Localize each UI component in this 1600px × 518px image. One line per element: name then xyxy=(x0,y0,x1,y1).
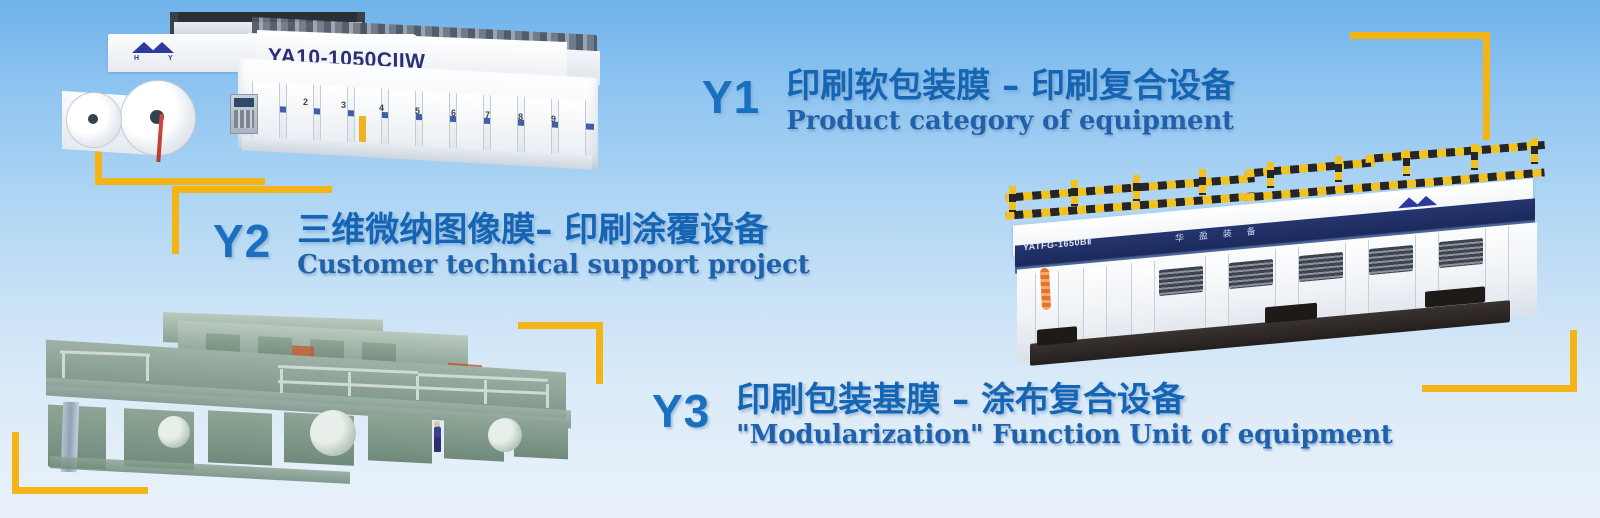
operator-figure xyxy=(434,426,441,452)
safety-rail-post xyxy=(1471,144,1478,170)
print-unit-number: 9 xyxy=(551,114,556,124)
print-unit-number: 6 xyxy=(451,108,456,118)
lamination-column xyxy=(1083,266,1107,348)
press-control-panel xyxy=(230,94,258,134)
entry-y3-text: 印刷包装基膜 – 涂布复合设备 "Modularization" Functio… xyxy=(736,382,1392,449)
entry-y1: Y1 印刷软包装膜 – 印刷复合设备 Product category of e… xyxy=(702,68,1235,135)
entry-y2-chinese: 三维微纳图像膜– 印刷涂覆设备 xyxy=(297,212,809,249)
safety-rail-post xyxy=(1531,138,1538,164)
control-panel-screen xyxy=(234,98,254,107)
safety-rail-post xyxy=(1335,156,1342,182)
coating-drum xyxy=(488,418,522,452)
control-panel-keypad xyxy=(234,110,254,128)
print-unit-number: 8 xyxy=(518,112,523,122)
coating-rail-post xyxy=(484,380,487,404)
entry-y1-text: 印刷软包装膜 – 印刷复合设备 Product category of equi… xyxy=(786,68,1235,135)
machine-dry-lamination: YATFG-1650BⅡ 华 盈 装 备 xyxy=(975,150,1575,360)
entry-y2: Y2 三维微纳图像膜– 印刷涂覆设备 Customer technical su… xyxy=(213,212,810,279)
safety-rail-post xyxy=(1403,150,1410,176)
lamination-model-text: YATFG-1650BⅡ xyxy=(1023,236,1092,252)
safety-rail-top xyxy=(1245,158,1375,177)
entry-y3: Y3 印刷包装基膜 – 涂布复合设备 "Modularization" Func… xyxy=(652,382,1393,449)
coating-rail-post xyxy=(348,372,351,396)
lamination-column xyxy=(1485,226,1509,308)
print-unit-number: 4 xyxy=(379,103,384,113)
entry-y3-code: Y3 xyxy=(652,388,710,434)
bracket-top-right xyxy=(1350,32,1490,140)
coating-unit xyxy=(368,414,432,463)
promo-banner: H Y YA10-1050CIIW 1 2 3 4 5 6 7 8 9 xyxy=(0,0,1600,518)
coating-unit xyxy=(208,410,272,465)
print-unit-number: 5 xyxy=(415,106,420,116)
coating-rail-post xyxy=(62,352,65,378)
lamination-column xyxy=(1345,240,1369,322)
safety-rail-top xyxy=(1365,141,1545,163)
print-unit-number: 2 xyxy=(303,97,308,107)
lamination-roller xyxy=(1229,259,1273,289)
entry-y1-code: Y1 xyxy=(702,74,760,120)
unwind-roll-small-hub xyxy=(88,114,98,124)
entry-y3-chinese: 印刷包装基膜 – 涂布复合设备 xyxy=(736,382,1392,419)
entry-y2-code: Y2 xyxy=(213,218,271,264)
lamination-roller xyxy=(1439,238,1483,268)
safety-rail-post xyxy=(1009,186,1016,212)
entry-y2-text: 三维微纳图像膜– 印刷涂覆设备 Customer technical suppo… xyxy=(297,212,809,279)
entry-y2-english: Customer technical support project xyxy=(297,251,809,280)
coating-drum xyxy=(158,416,190,448)
print-unit-number: 7 xyxy=(485,110,490,120)
operator-head xyxy=(434,421,440,427)
print-unit-number: 3 xyxy=(341,100,346,110)
machine-paper-coating-line xyxy=(28,306,573,478)
entry-y1-english: Product category of equipment xyxy=(786,107,1235,136)
coating-rail-post xyxy=(416,376,419,400)
entry-y3-english: "Modularization" Function Unit of equipm… xyxy=(736,421,1392,450)
lamination-column xyxy=(1205,254,1229,336)
machine-gravure-printing-press: H Y YA10-1050CIIW 1 2 3 4 5 6 7 8 9 xyxy=(52,6,597,178)
safety-rail-post xyxy=(1199,169,1206,195)
brand-logo-hy: H Y xyxy=(132,42,188,64)
safety-rail-post xyxy=(1071,180,1078,206)
lamination-roller xyxy=(1369,245,1413,275)
entry-y1-chinese: 印刷软包装膜 – 印刷复合设备 xyxy=(786,68,1235,105)
safety-rail-post xyxy=(1133,175,1140,201)
coating-rail-post xyxy=(280,369,283,393)
safety-rail-post xyxy=(1267,162,1274,188)
lamination-roller xyxy=(1299,252,1343,282)
coating-unit xyxy=(514,419,568,460)
lamination-roller xyxy=(1159,266,1203,296)
coating-drum xyxy=(310,410,356,456)
press-yellow-marker xyxy=(359,116,366,142)
coating-rail-post xyxy=(146,355,149,381)
coating-rail-post xyxy=(546,384,549,408)
lamination-column xyxy=(1131,261,1155,343)
